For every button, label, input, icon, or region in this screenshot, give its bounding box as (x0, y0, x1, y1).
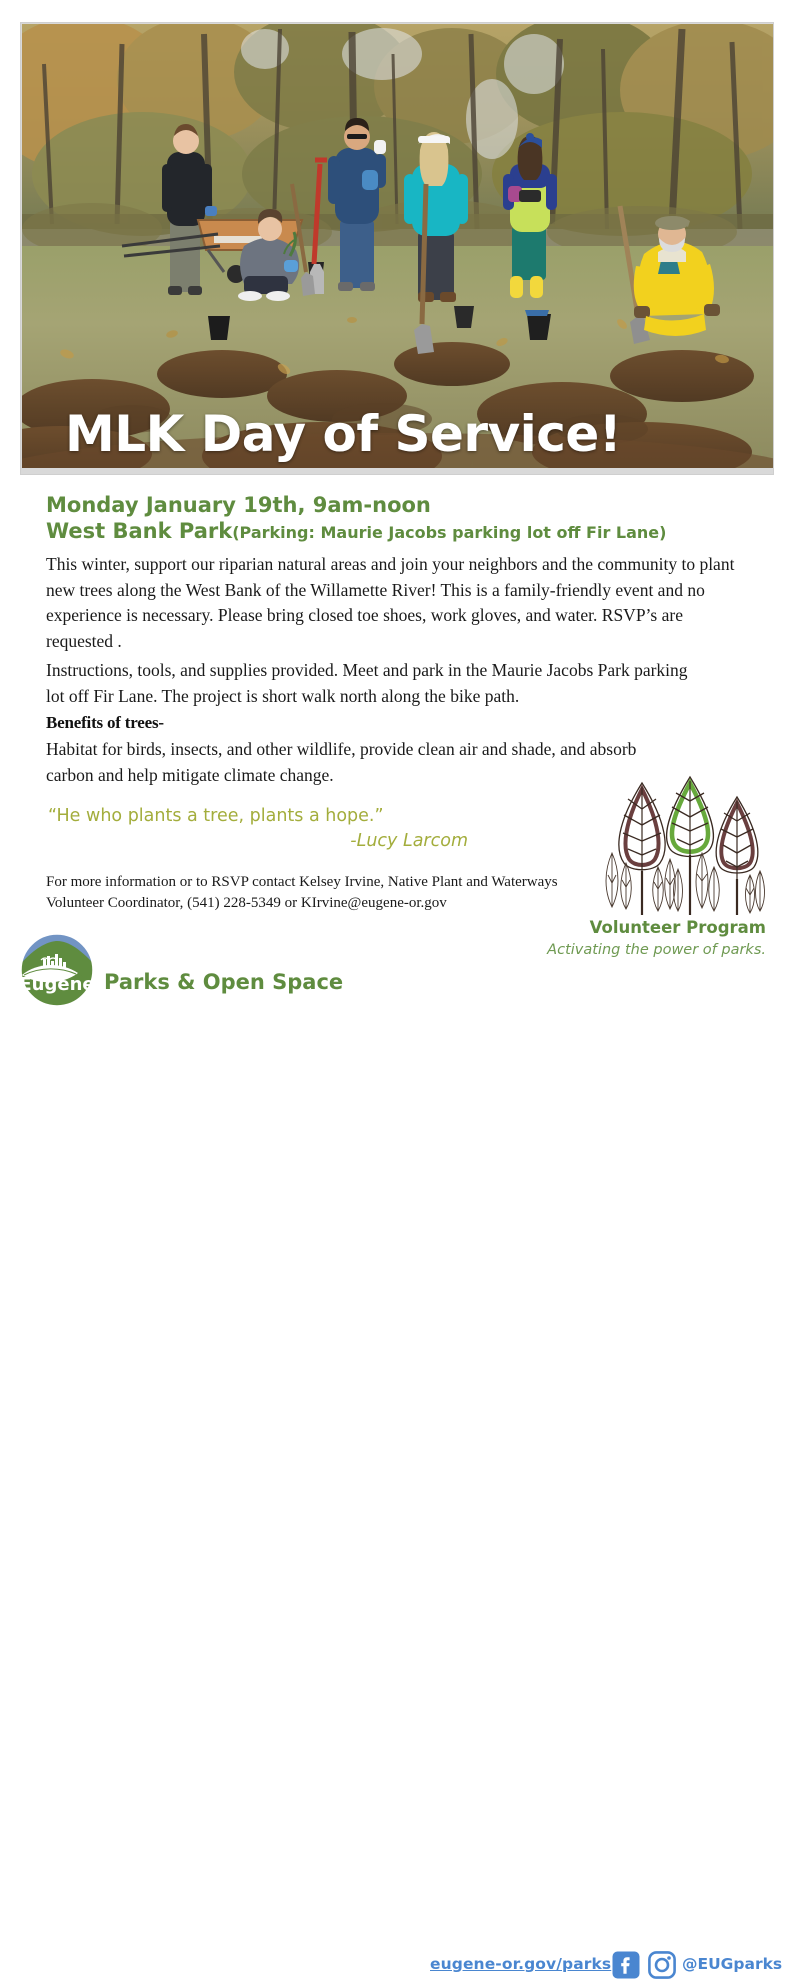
photo-frame: MLK Day of Service! (20, 22, 774, 475)
paragraph-logistics: Instructions, tools, and supplies provid… (46, 654, 706, 709)
instagram-icon[interactable] (648, 1951, 676, 1979)
quote-text: “He who plants a tree, plants a hope.” (48, 788, 668, 828)
event-date: Monday January 19th, 9am-noon (46, 475, 794, 518)
volunteer-photo (22, 24, 774, 468)
benefits-heading: Benefits of trees- (46, 709, 794, 735)
footer-bar: eugene-or.gov/parks @EUGparks (0, 974, 794, 1014)
location-parking-note: (Parking: Maurie Jacobs parking lot off … (232, 523, 666, 542)
tree-illustration (598, 775, 778, 915)
benefits-text: Habitat for birds, insects, and other wi… (46, 735, 646, 788)
location-name: West Bank Park (46, 519, 232, 543)
volunteer-program-title: Volunteer Program (436, 918, 766, 938)
headline: MLK Day of Service! (65, 408, 621, 460)
paragraph-intro: This winter, support our riparian natura… (46, 546, 746, 654)
facebook-icon[interactable] (612, 1951, 640, 1979)
website-link[interactable]: eugene-or.gov/parks (430, 1955, 611, 1973)
quote-attribution: -Lucy Larcom (48, 828, 468, 854)
contact-info: For more information or to RSVP contact … (46, 854, 591, 914)
social-handle: @EUGparks (682, 1955, 782, 1973)
volunteer-program-block: Volunteer Program Activating the power o… (436, 918, 766, 960)
event-location: West Bank Park(Parking: Maurie Jacobs pa… (46, 518, 794, 546)
flyer-page: MLK Day of Service! Monday January 19th,… (0, 0, 794, 1030)
volunteer-program-tagline: Activating the power of parks. (436, 938, 766, 960)
